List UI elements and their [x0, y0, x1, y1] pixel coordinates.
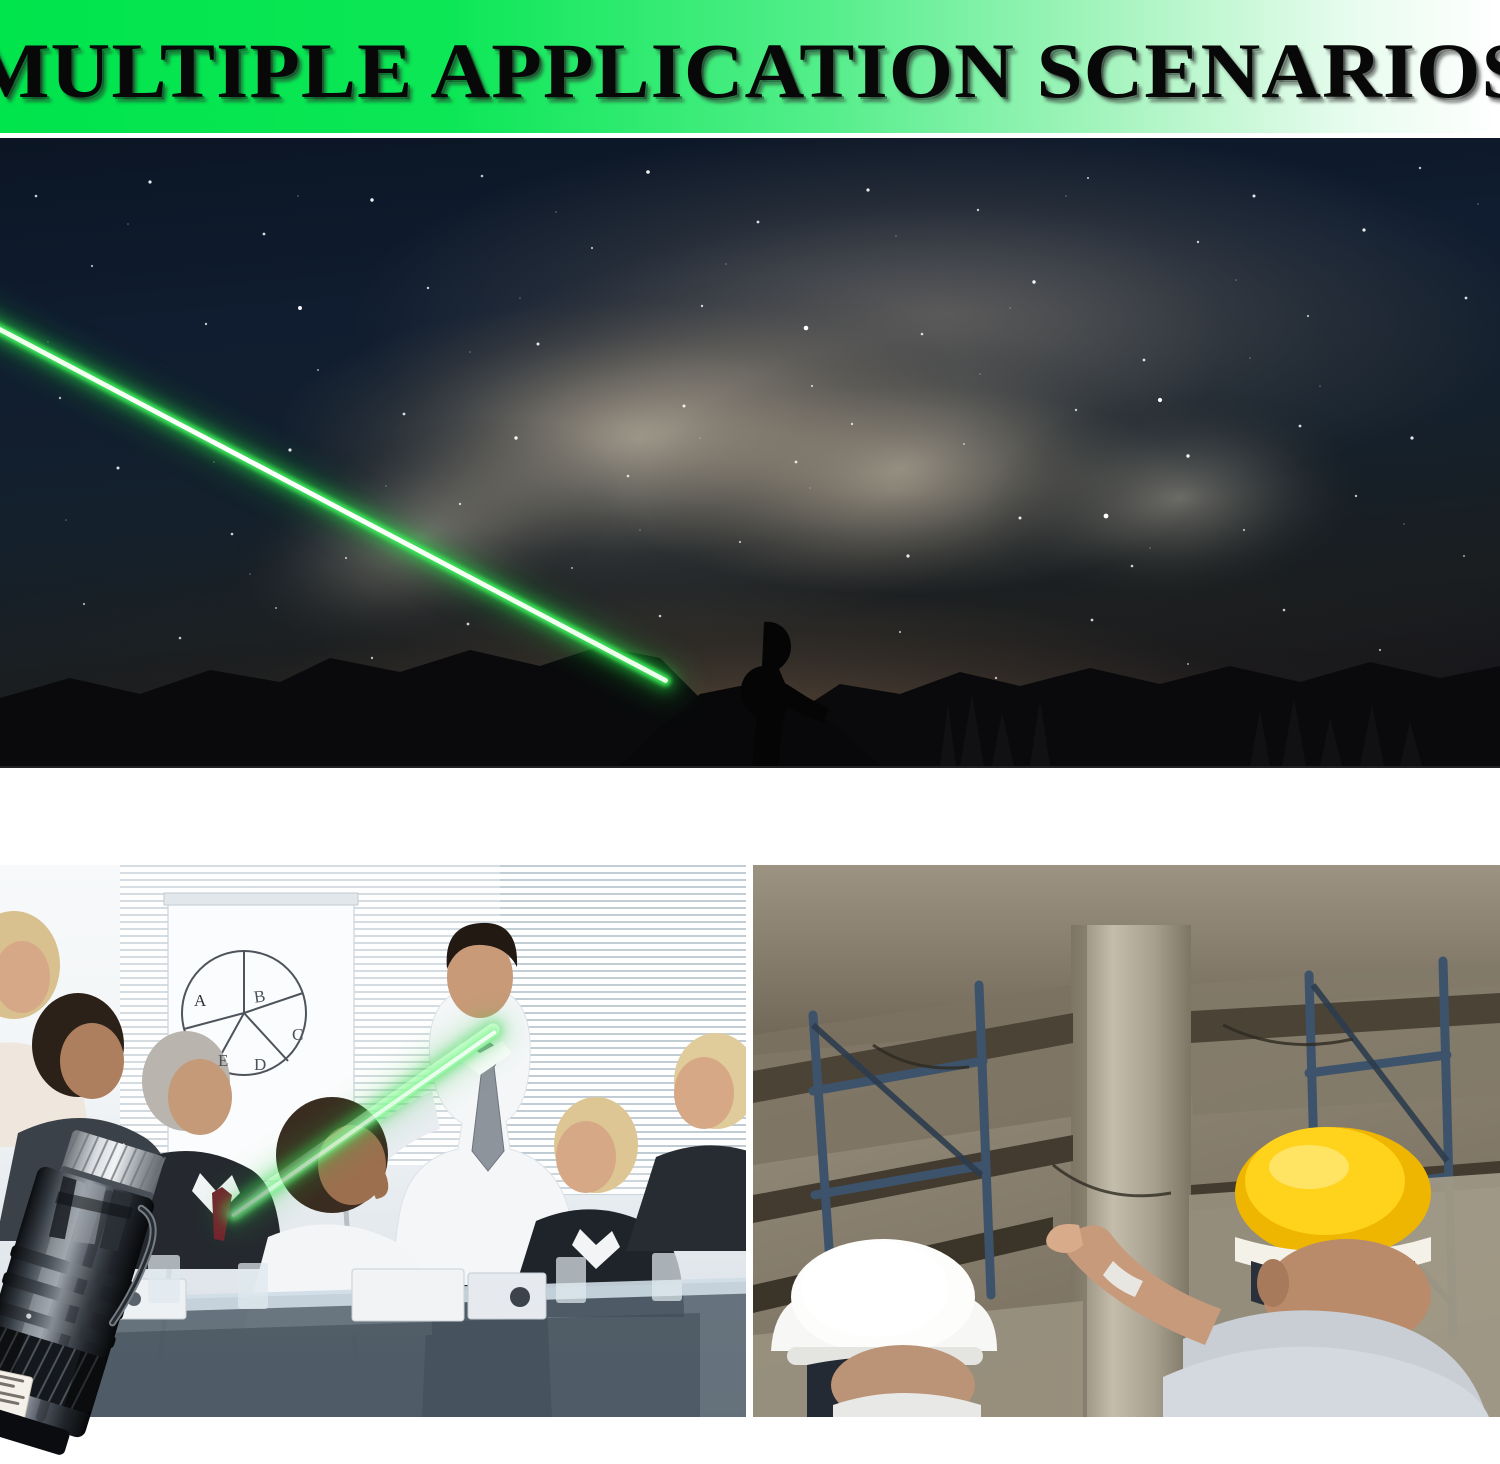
- pie-label-a: A: [194, 991, 206, 1011]
- construction-scene: [753, 865, 1500, 1417]
- pie-label-e: E: [218, 1051, 228, 1071]
- header-banner: MULTIPLE APPLICATION SCENARIOS: [0, 0, 1500, 133]
- starfield: [0, 138, 1500, 766]
- concrete-column: [1071, 925, 1191, 1417]
- pie-label-d: D: [254, 1055, 266, 1075]
- product-infographic: MULTIPLE APPLICATION SCENARIOS: [0, 0, 1500, 1417]
- panel-night-sky-stargazing: [0, 138, 1500, 768]
- attendee-far-right: [626, 1033, 746, 1251]
- page-title: MULTIPLE APPLICATION SCENARIOS: [0, 0, 1500, 133]
- pie-label-c: C: [292, 1025, 303, 1045]
- panel-construction-site: [753, 865, 1500, 1417]
